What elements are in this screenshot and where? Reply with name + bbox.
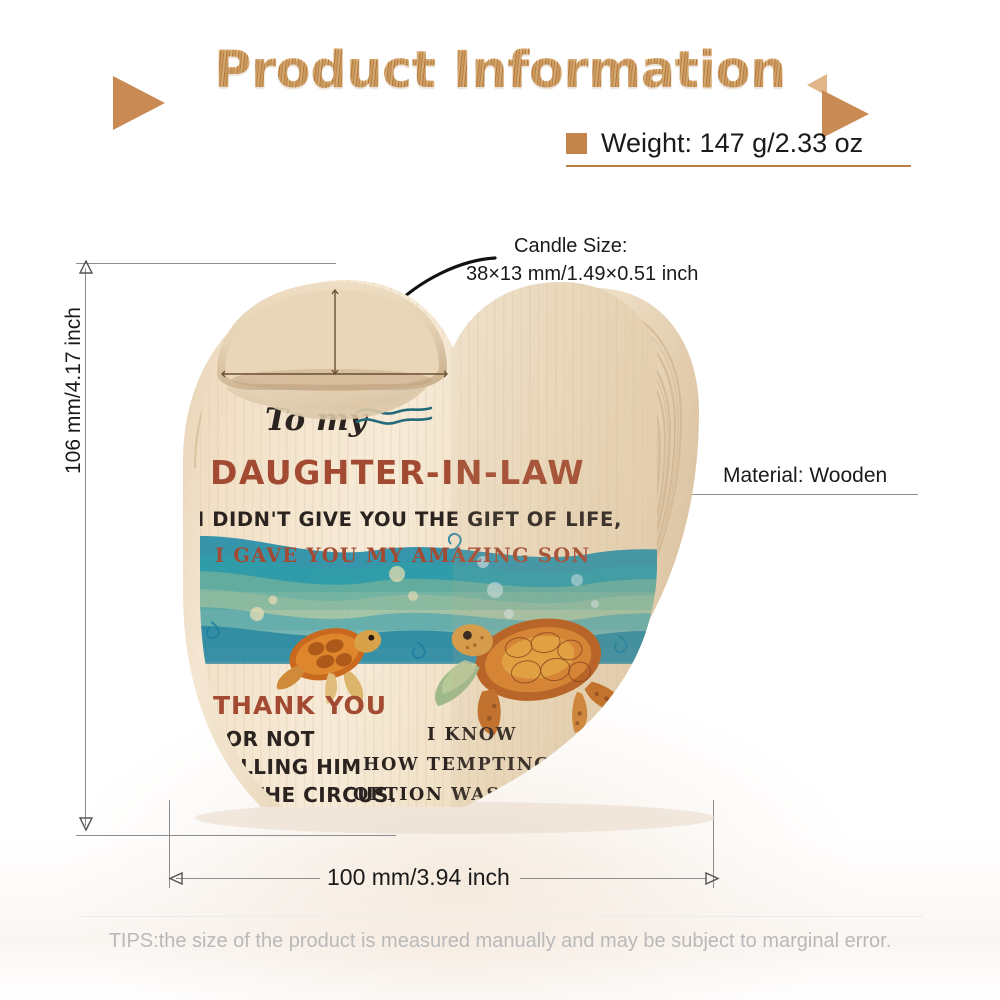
- width-dimension-line-right: [520, 878, 706, 879]
- weight-spec: Weight: 147 g/2.33 oz: [566, 128, 911, 167]
- engraving-right-l3: OPTION WAS SOME DAYS.: [353, 785, 650, 805]
- material-label: Material: Wooden: [723, 464, 887, 488]
- arrow-right-icon: [704, 871, 720, 887]
- arrow-down-icon: [78, 816, 94, 832]
- weight-label: Weight: 147 g/2.33 oz: [601, 128, 863, 159]
- engraving-thanks-title: THANK YOU: [213, 691, 387, 720]
- arrow-left-icon: [168, 871, 184, 887]
- footer-tips: TIPS:the size of the product is measured…: [0, 930, 1000, 953]
- square-bullet-icon: [566, 133, 587, 154]
- width-dimension-line-left: [176, 878, 320, 879]
- footer-divider: [78, 916, 923, 917]
- width-dimension-label: 100 mm/3.94 inch: [327, 864, 510, 891]
- product-image: To my DAUGHTER-IN-LAW I DIDN'T GIVE YOU …: [165, 262, 725, 842]
- page-header: Product Information: [0, 34, 1000, 114]
- candle-size-title: Candle Size:: [466, 232, 698, 260]
- height-dimension-label: 106 mm/4.17 inch: [62, 234, 86, 474]
